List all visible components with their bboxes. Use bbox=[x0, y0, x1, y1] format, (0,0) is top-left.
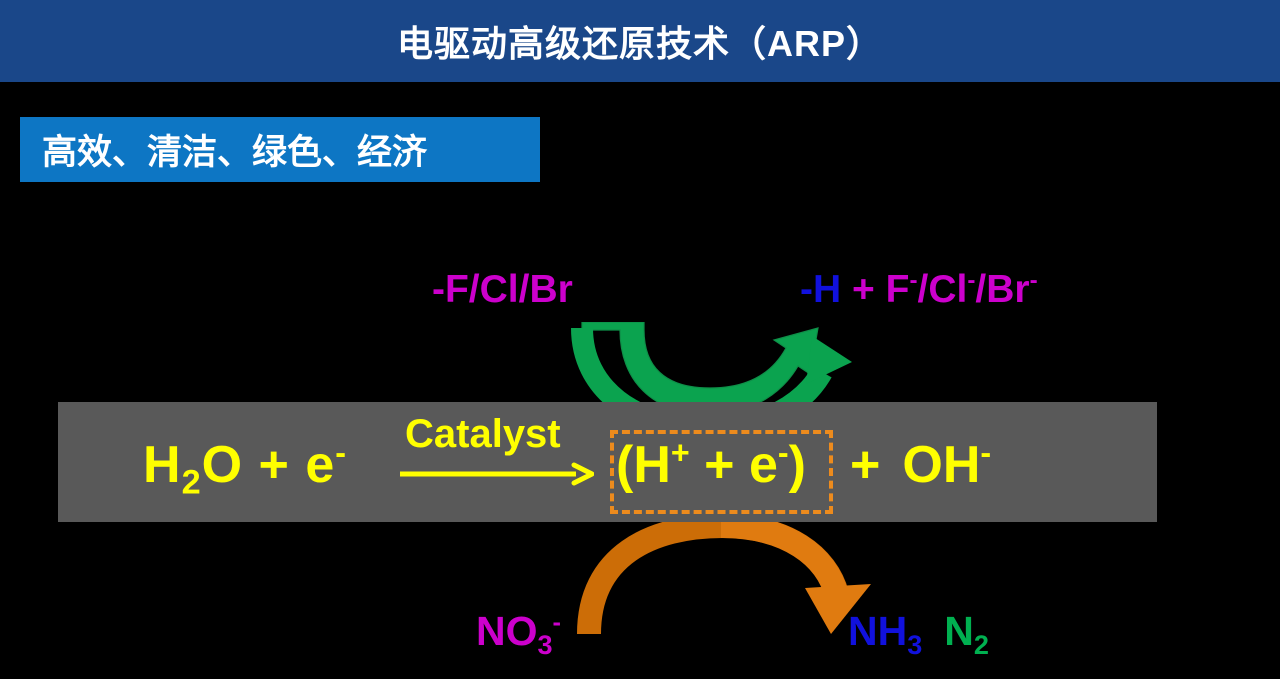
catalyst-label: Catalyst bbox=[405, 412, 561, 457]
label-halide-ions: F-/Cl-/Br- bbox=[886, 268, 1038, 311]
label-dehalogenation-reactant: -F/Cl/Br bbox=[432, 268, 573, 312]
equation-boxed-species: (H+ + e-) bbox=[616, 435, 806, 495]
label-nitrogen-products: NH3N2 bbox=[848, 608, 989, 655]
slide-canvas: 电驱动高级还原技术（ARP） 高效、清洁、绿色、经济 -F/Cl/Br -H +… bbox=[0, 0, 1280, 679]
label-plus-sign: + bbox=[852, 268, 875, 311]
subtitle-badge: 高效、清洁、绿色、经济 bbox=[20, 117, 540, 182]
label-dehalogenation-product: -H + F-/Cl-/Br- bbox=[800, 268, 1038, 312]
page-title: 电驱动高级还原技术（ARP） bbox=[397, 15, 883, 67]
equation-right-side: +OH- bbox=[850, 435, 991, 495]
label-hydrogenated-product: -H bbox=[800, 268, 841, 311]
nitrate-reduction-arrow-icon bbox=[565, 522, 875, 637]
label-dinitrogen-product: N2 bbox=[944, 608, 989, 654]
reaction-arrow-icon bbox=[398, 462, 594, 486]
label-ammonia-product: NH3 bbox=[848, 608, 922, 654]
label-nitrate-reactant: NO3- bbox=[476, 608, 561, 655]
equation-left-side: H2O + e- bbox=[143, 435, 347, 495]
label-dehalogenation-reactant-text: -F/Cl/Br bbox=[432, 268, 573, 311]
subtitle-text: 高效、清洁、绿色、经济 bbox=[20, 124, 427, 175]
reaction-equation-band: H2O + e- Catalyst (H+ + e-) +OH- bbox=[58, 402, 1157, 522]
title-banner: 电驱动高级还原技术（ARP） bbox=[0, 0, 1280, 82]
